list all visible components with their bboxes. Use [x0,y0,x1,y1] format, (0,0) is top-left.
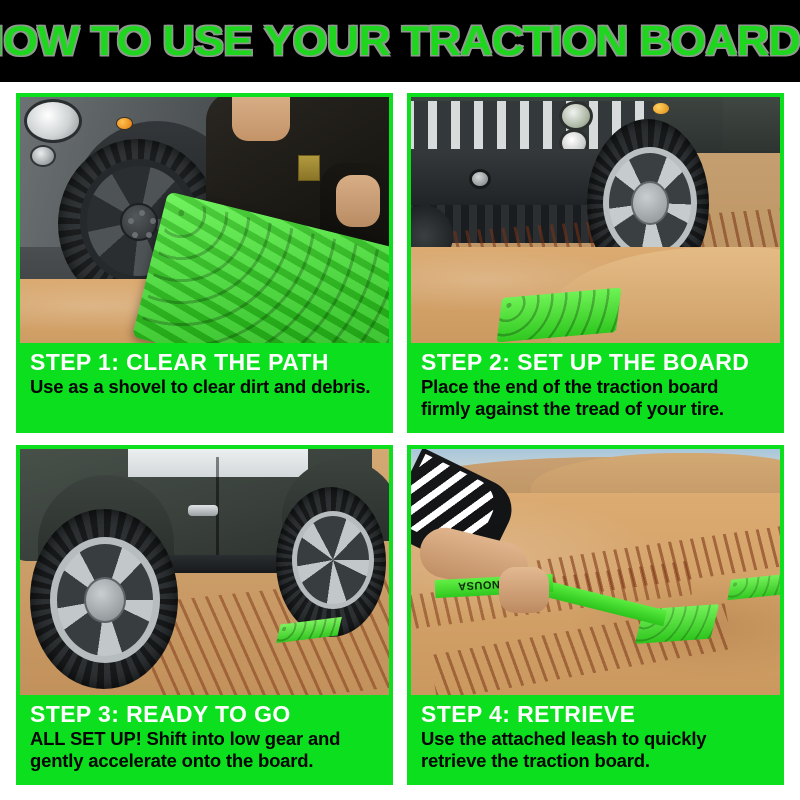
step-4-text: STEP 4: RETRIEVE Use the attached leash … [411,695,780,779]
headlight-icon [24,99,82,143]
header-band: HOW TO USE YOUR TRACTION BOARDS [0,0,800,82]
rear-wheel-rim-icon [292,511,374,609]
turn-signal-icon [116,117,133,130]
step-3-body: ALL SET UP! Shift into low gear and gent… [30,728,381,772]
person-neck [232,97,290,141]
page-title: HOW TO USE YOUR TRACTION BOARDS [0,19,800,63]
lug-nut-icon [150,218,156,224]
wheel-hub-icon [84,577,126,623]
headlight-icon [559,101,593,131]
lug-nut-icon [139,210,145,216]
step-card-1: STEP 1: CLEAR THE PATH Use as a shovel t… [16,93,393,433]
step-2-title: STEP 2: SET UP THE BOARD [421,349,772,375]
step-1-body: Use as a shovel to clear dirt and debris… [30,376,381,398]
step-1-photo [20,97,389,343]
person-right-hand [336,175,380,227]
wheel-hub-icon [631,181,669,225]
steps-grid: STEP 1: CLEAR THE PATH Use as a shovel t… [16,93,784,785]
step-1-title: STEP 1: CLEAR THE PATH [30,349,381,375]
step-card-3: STEP 3: READY TO GO ALL SET UP! Shift in… [16,445,393,785]
step-3-text: STEP 3: READY TO GO ALL SET UP! Shift in… [20,695,389,779]
door-handle-icon [188,505,218,516]
step-card-4: RHINOUSA STEP 4: RETRIEVE Use the attach… [407,445,784,785]
lug-nut-icon [132,232,138,238]
turn-signal-icon [653,103,669,114]
jeep-side-body [723,97,780,151]
step-4-title: STEP 4: RETRIEVE [421,701,772,727]
step-4-photo: RHINOUSA [411,449,780,695]
step-3-photo [20,449,389,695]
step-3-title: STEP 3: READY TO GO [30,701,381,727]
person-fist [499,567,549,613]
lug-nut-icon [146,232,152,238]
step-2-text: STEP 2: SET UP THE BOARD Place the end o… [411,343,780,427]
step-4-body: Use the attached leash to quickly retrie… [421,728,772,772]
step-1-text: STEP 1: CLEAR THE PATH Use as a shovel t… [20,343,389,427]
fog-light-icon [30,145,56,167]
step-2-body: Place the end of the traction board firm… [421,376,772,420]
tow-hook-icon [469,169,491,189]
step-card-2: STEP 2: SET UP THE BOARD Place the end o… [407,93,784,433]
step-2-photo [411,97,780,343]
wheel-hub-icon [120,203,158,241]
jacket-patch-icon [298,155,320,181]
infographic-page: HOW TO USE YOUR TRACTION BOARDS [0,0,800,800]
lug-nut-icon [128,218,134,224]
